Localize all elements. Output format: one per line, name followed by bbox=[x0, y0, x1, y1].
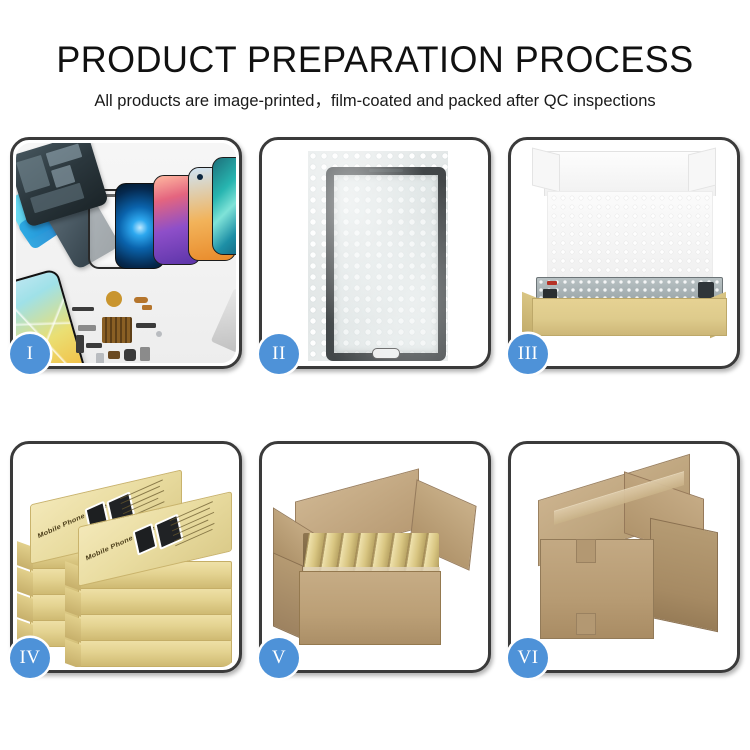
battery-icon bbox=[16, 155, 50, 193]
process-step-5: V bbox=[259, 441, 491, 673]
plastic-sheen-icon bbox=[308, 151, 448, 361]
hole-punch-camera-icon bbox=[197, 174, 203, 180]
step-4-badge: IV bbox=[10, 638, 50, 678]
box-layer bbox=[78, 613, 232, 641]
step-1-badge: I bbox=[10, 334, 50, 374]
process-step-grid: I II bbox=[10, 137, 740, 737]
page-title: PRODUCT PREPARATION PROCESS bbox=[11, 36, 739, 84]
box-side-icon bbox=[17, 567, 33, 597]
camera-module-icon bbox=[124, 349, 136, 361]
carton-tab-top-icon bbox=[576, 539, 596, 563]
process-step-3: III bbox=[508, 137, 740, 369]
process-step-1: I bbox=[10, 137, 242, 369]
vibration-motor-icon bbox=[106, 291, 122, 307]
flex-connector-icon bbox=[134, 297, 148, 303]
inner-box-front-icon bbox=[532, 298, 727, 336]
page-subtitle: All products are image-printed，film-coat… bbox=[0, 90, 750, 112]
bracket-icon bbox=[78, 325, 96, 331]
red-marker-icon bbox=[547, 281, 557, 285]
process-step-6: VI bbox=[508, 441, 740, 673]
box-side-icon bbox=[17, 593, 33, 623]
box-stack-icon: Mobile Phone Spare Parts Mobile Phone Sp… bbox=[16, 453, 236, 667]
box-layer bbox=[78, 587, 232, 615]
step-6-image bbox=[514, 447, 734, 667]
box-lid-right-icon bbox=[688, 148, 716, 193]
chip-array-icon bbox=[102, 317, 132, 343]
spare-parts-group bbox=[72, 291, 176, 363]
carton-front-face-icon bbox=[540, 539, 654, 639]
box-checklist-icon bbox=[170, 499, 227, 556]
step-3-badge: III bbox=[508, 334, 548, 374]
step-2-image bbox=[265, 143, 485, 363]
step-1-image bbox=[16, 143, 236, 363]
teal-swirl-screen-icon bbox=[212, 157, 236, 255]
process-step-4: Mobile Phone Spare Parts Mobile Phone Sp… bbox=[10, 441, 242, 673]
box-lid-left-icon bbox=[532, 148, 560, 193]
taptic-engine-icon bbox=[140, 347, 150, 361]
step-5-image bbox=[265, 447, 485, 667]
ribbon-cable-icon bbox=[136, 323, 156, 328]
process-step-2: II bbox=[259, 137, 491, 369]
sim-tray-icon bbox=[96, 353, 104, 363]
foam-padding-icon bbox=[547, 191, 713, 281]
copper-clip-icon bbox=[142, 305, 152, 310]
antenna-cable-icon bbox=[86, 343, 102, 348]
speaker-mesh-icon bbox=[72, 307, 94, 311]
step-6-badge: VI bbox=[508, 638, 548, 678]
carton-front-face-icon bbox=[299, 571, 441, 645]
step-4-image: Mobile Phone Spare Parts Mobile Phone Sp… bbox=[16, 447, 236, 667]
step-3-image bbox=[514, 143, 734, 363]
screw-icon bbox=[156, 331, 162, 337]
box-layer bbox=[78, 639, 232, 667]
header: PRODUCT PREPARATION PROCESS All products… bbox=[0, 0, 750, 112]
bubble-wrap-icon bbox=[308, 151, 448, 361]
step-2-badge: II bbox=[259, 334, 299, 374]
box-side-icon bbox=[65, 639, 81, 667]
ic-chip-icon bbox=[108, 351, 120, 359]
flex-cable-icon bbox=[76, 335, 84, 353]
carton-right-face-icon bbox=[650, 518, 718, 632]
carton-tab-bottom-icon bbox=[576, 613, 596, 635]
camera-cutout-icon bbox=[698, 282, 714, 298]
logic-board-icon bbox=[46, 143, 83, 166]
product-preparation-infographic: PRODUCT PREPARATION PROCESS All products… bbox=[0, 0, 750, 750]
step-5-badge: V bbox=[259, 638, 299, 678]
